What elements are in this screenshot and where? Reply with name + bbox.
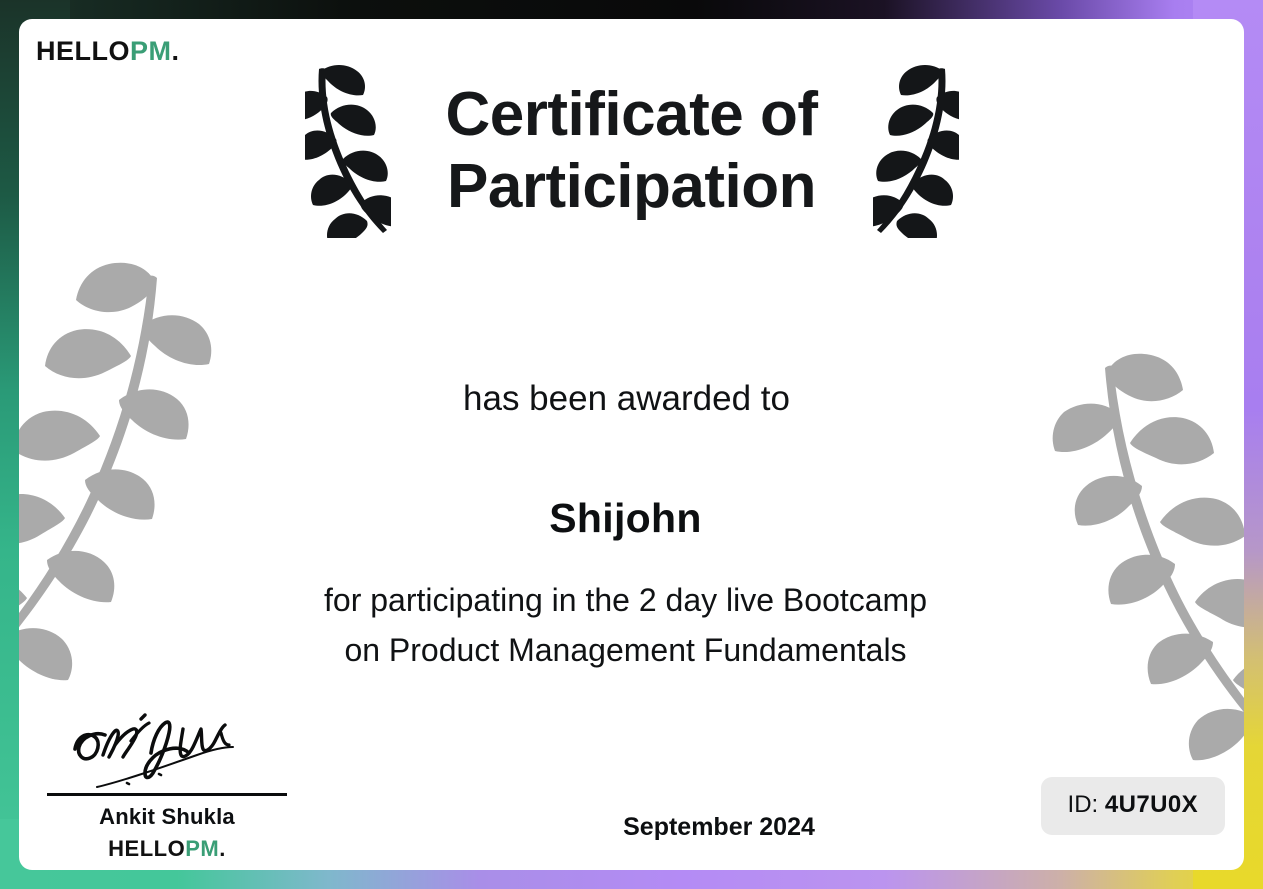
signature-line: [47, 793, 287, 796]
brand-name-accent: PM: [130, 36, 172, 66]
signature-block: Ankit Shukla HELLOPM.: [37, 711, 297, 862]
title-block: Certificate of Participation: [19, 63, 1244, 238]
description-line-2: on Product Management Fundamentals: [19, 626, 1232, 676]
handwritten-signature-icon: [65, 711, 245, 791]
signature-brand-logo: HELLOPM.: [37, 836, 297, 862]
certificate-id-value: 4U7U0X: [1105, 791, 1198, 818]
description-line-1: for participating in the 2 day live Boot…: [19, 576, 1232, 626]
signer-name: Ankit Shukla: [37, 804, 297, 830]
certificate-frame: HELLOPM. Certificate of Part: [0, 0, 1263, 889]
certificate-card: HELLOPM. Certificate of Part: [19, 19, 1244, 870]
laurel-branch-icon: [873, 63, 959, 238]
page-title: Certificate of Participation: [397, 79, 867, 223]
certificate-id-badge: ID: 4U7U0X: [1041, 777, 1225, 835]
recipient-name: Shijohn: [19, 495, 1232, 542]
description-text: for participating in the 2 day live Boot…: [19, 576, 1232, 676]
brand-name-primary: HELLO: [36, 36, 130, 66]
title-line-2: Participation: [397, 151, 867, 223]
signature-brand-dot: .: [219, 836, 226, 861]
title-line-1: Certificate of: [397, 79, 867, 151]
brand-name-dot: .: [172, 36, 180, 66]
signature-brand-accent: PM: [185, 836, 219, 861]
awarded-to-label: has been awarded to: [19, 379, 1234, 419]
laurel-branch-icon: [305, 63, 391, 238]
issue-date: September 2024: [519, 813, 919, 842]
signature-brand-primary: HELLO: [108, 836, 185, 861]
certificate-id-label: ID:: [1068, 791, 1099, 818]
